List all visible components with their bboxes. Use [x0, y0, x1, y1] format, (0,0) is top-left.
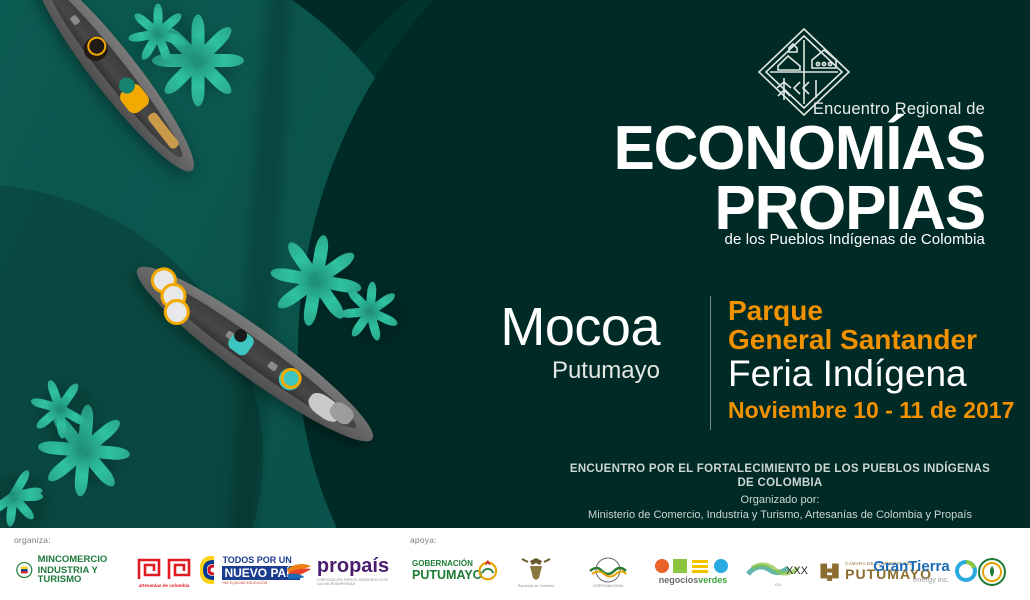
logo-gobernacion-text: GOBERNACIÓN — [412, 560, 482, 568]
logo-propais-text2: CORPORACIÓN PARA EL DESARROLLO DE LAS MI… — [317, 578, 392, 586]
event-dates: Noviembre 10 - 11 de 2017 — [728, 398, 1014, 423]
logo-institucional-circular[interactable] — [972, 556, 1012, 588]
logo-negociosverdes-text: negocios — [659, 576, 699, 585]
logo-propais-text: propaís — [317, 556, 392, 576]
xxx-watercolor-icon: XXX — [746, 558, 810, 582]
propais-mark-icon — [284, 556, 314, 586]
logo-negociosverdes-text2: verdes — [698, 576, 727, 585]
logo-xxx-aniversario[interactable]: XXX XXX — [742, 554, 814, 590]
logo-gran-tierra-energy[interactable]: GranTierra energy inc. — [866, 556, 986, 586]
logo-mincomercio-text: MINCOMERCIO — [38, 555, 126, 565]
venue-line-2: General Santander — [728, 325, 977, 354]
logo-grantierra-text: GranTierra — [873, 559, 949, 574]
sponsor-footer: organiza: apoya: MINCOMERCIO INDUSTRIA Y… — [0, 528, 1030, 600]
logo-mincomercio-text2: INDUSTRIA Y TURISMO — [38, 566, 126, 585]
organizers-list: Ministerio de Comercio, Industria y Turi… — [560, 508, 1000, 523]
logo-artesanias-de-colombia[interactable]: artesanías de colombia — [132, 554, 196, 590]
logo-mincomercio[interactable]: MINCOMERCIO INDUSTRIA Y TURISMO — [16, 555, 126, 585]
logo-grantierra-text2: energy inc. — [873, 575, 949, 584]
logo-gobernacion-text2: PUTUMAYO — [412, 569, 482, 582]
logo-gobernacion-putumayo[interactable]: GOBERNACIÓN PUTUMAYO — [412, 555, 500, 587]
escudo-icon — [16, 560, 33, 580]
logo-escudo-colombia[interactable]: República de Colombia — [508, 554, 564, 590]
institucional-seal-icon — [977, 557, 1007, 587]
vertical-divider — [710, 296, 711, 430]
apoya-label: apoya: — [410, 535, 437, 545]
logo-propais[interactable]: propaís CORPORACIÓN PARA EL DESARROLLO D… — [284, 554, 392, 588]
logo-corpoamazonia-text: CORPOAMAZONIA — [593, 584, 624, 588]
fair-name: Feria Indígena — [728, 354, 967, 394]
camara-mark-icon — [818, 557, 841, 585]
escudo-nacional-icon — [518, 556, 554, 582]
venue-line-1: Parque — [728, 296, 823, 325]
corpoamazonia-icon — [578, 557, 638, 583]
organized-by-label: Organizado por: — [560, 493, 1000, 508]
logo-corpoamazonia[interactable]: CORPOAMAZONIA — [572, 554, 644, 590]
city-name: Mocoa — [500, 300, 660, 354]
organiza-label: organiza: — [14, 535, 51, 545]
putumayo-emblem-icon — [476, 556, 500, 586]
poster-subtitle: de los Pueblos Indígenas de Colombia — [560, 231, 985, 248]
poster-content: Encuentro Regional de ECONOMÍAS PROPIAS … — [0, 0, 1030, 528]
logo-escudo-text: República de Colombia — [518, 584, 554, 588]
description-headline: ENCUENTRO POR EL FORTALECIMIENTO DE LOS … — [560, 462, 1000, 490]
event-place-block: Mocoa Putumayo Parque General Santander … — [470, 300, 990, 430]
svg-text:XXX: XXX — [786, 565, 809, 577]
logo-negocios-verdes[interactable]: negocios verdes — [650, 556, 736, 586]
negocios-verdes-mark-icon — [653, 558, 733, 574]
poster-root: Encuentro Regional de ECONOMÍAS PROPIAS … — [0, 0, 1030, 600]
event-description-block: ENCUENTRO POR EL FORTALECIMIENTO DE LOS … — [560, 462, 1000, 523]
bandera-icon — [200, 556, 218, 584]
logo-artesanias-text: artesanías de colombia — [139, 584, 190, 589]
greca-icon — [135, 556, 193, 582]
logo-xxx-text: XXX — [775, 583, 782, 587]
region-name: Putumayo — [552, 358, 660, 384]
poster-title-line1: ECONOMÍAS — [560, 118, 985, 180]
